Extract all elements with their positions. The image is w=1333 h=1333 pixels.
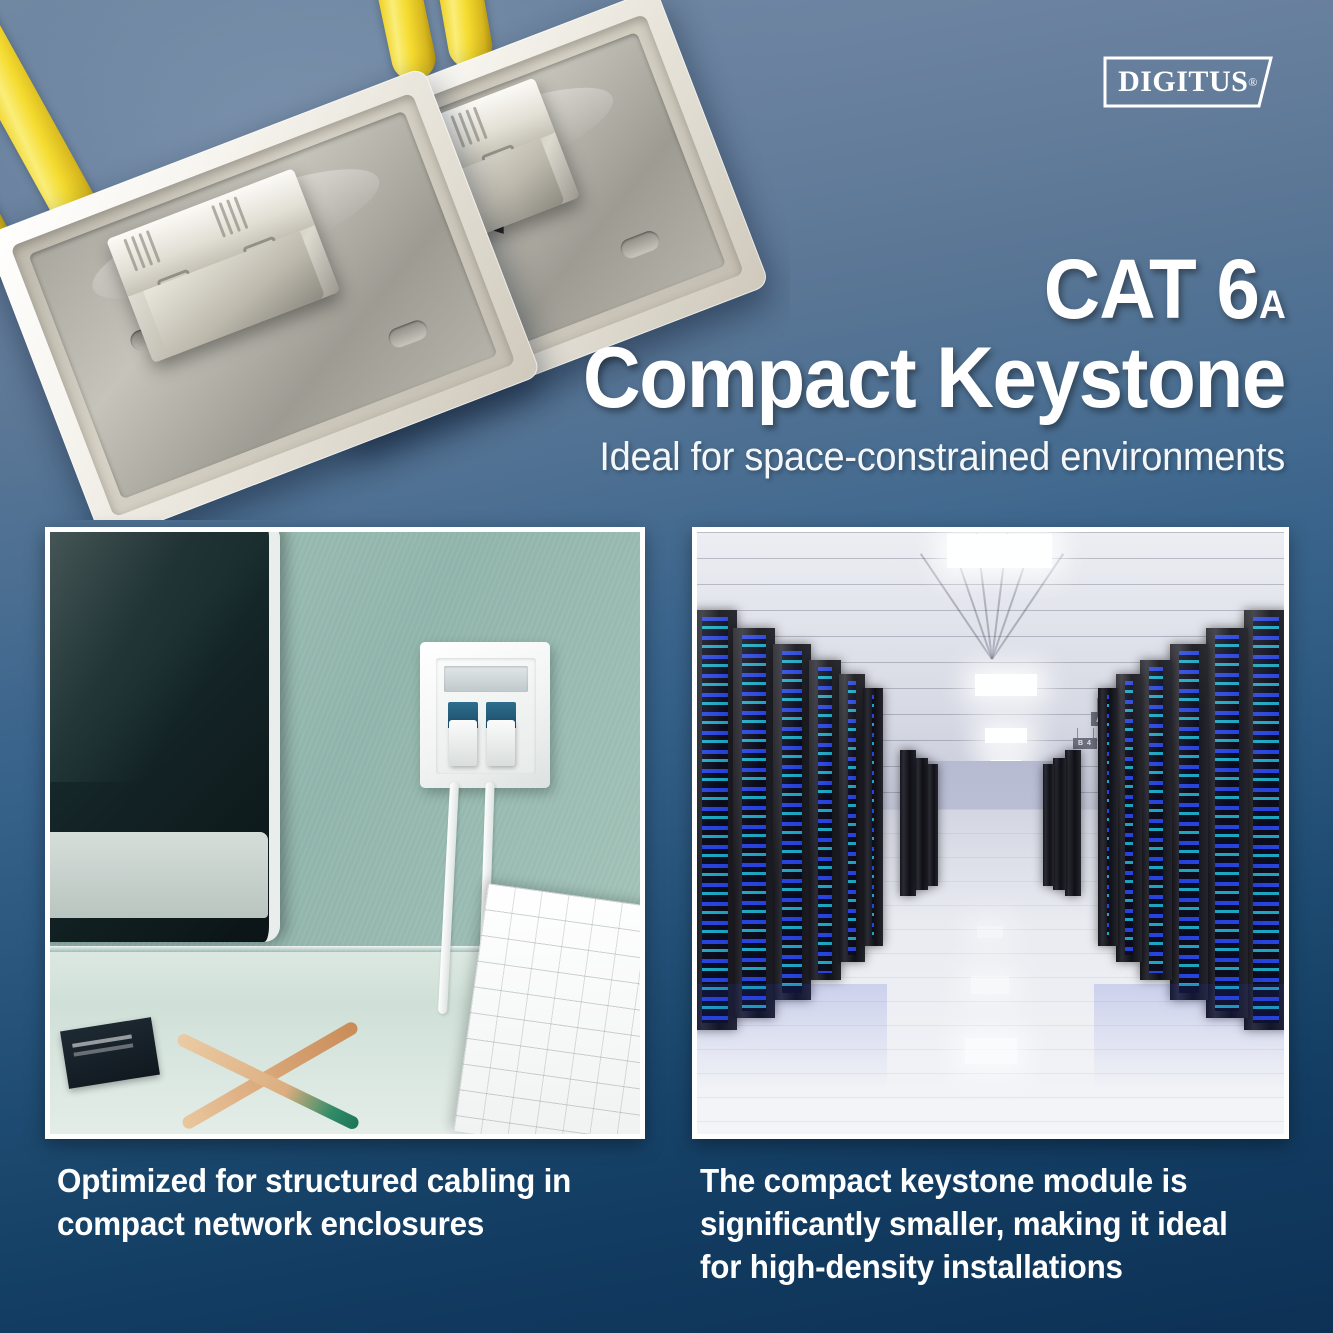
photo-panel-data-center: A 3 B 3 A 4 B 4 (692, 527, 1289, 1139)
rj45-plug (449, 720, 477, 766)
headline-tagline: Ideal for space-constrained environments (563, 435, 1285, 480)
server-rack (697, 610, 737, 1030)
caption-left: Optimized for structured cabling in comp… (57, 1160, 646, 1246)
server-rack (1065, 750, 1081, 896)
digitus-logo: DIGITUS® (1103, 56, 1273, 108)
headline-cat6: CAT 6 (1044, 242, 1259, 336)
office-outlet-photo (50, 532, 640, 1134)
server-rack (1043, 764, 1054, 886)
floor-light-reflection (971, 976, 1009, 994)
ceiling-light-panel (985, 728, 1027, 743)
server-rack (839, 674, 865, 962)
server-rack (1140, 660, 1172, 980)
server-rack (1116, 674, 1142, 962)
floor-reflection (1094, 984, 1284, 1134)
ceiling-light-panel (947, 534, 1052, 568)
server-rack (1053, 758, 1066, 890)
server-rack (1098, 688, 1118, 946)
outlet-label-strip (444, 666, 528, 692)
server-rack (863, 688, 883, 946)
headline-subscript-a: A (1259, 283, 1285, 327)
logo-brand-text: DIGITUS (1118, 65, 1248, 99)
floor-light-reflection (977, 926, 1003, 938)
rj45-plug (487, 720, 515, 766)
headline-line-1: CAT 6A (578, 248, 1285, 330)
registered-trademark-icon: ® (1248, 75, 1258, 90)
outlet-inner-frame (436, 658, 536, 774)
monitor-stand (50, 832, 268, 918)
server-rack (1206, 628, 1248, 1018)
floor-reflection (697, 984, 887, 1134)
server-rack (773, 644, 811, 1000)
ceiling-light-panel (975, 674, 1037, 696)
screw-slot (386, 318, 431, 351)
server-rack (1170, 644, 1208, 1000)
headline-line-2: Compact Keystone (578, 332, 1285, 425)
server-rack (900, 750, 916, 896)
server-rack (1244, 610, 1284, 1030)
server-rack (809, 660, 841, 980)
aisle-sign-b4: B 4 (1073, 738, 1097, 749)
data-center-photo: A 3 B 3 A 4 B 4 (697, 532, 1284, 1134)
server-rack (927, 764, 938, 886)
server-rack (733, 628, 775, 1018)
caption-right: The compact keystone module is significa… (700, 1160, 1270, 1289)
headline-block: CAT 6A Compact Keystone Ideal for space-… (525, 248, 1285, 480)
wall-outlet (420, 642, 550, 788)
logo-wordmark: DIGITUS® (1103, 56, 1273, 108)
floor-light-reflection (965, 1038, 1017, 1064)
photo-panel-office-outlet (45, 527, 645, 1139)
